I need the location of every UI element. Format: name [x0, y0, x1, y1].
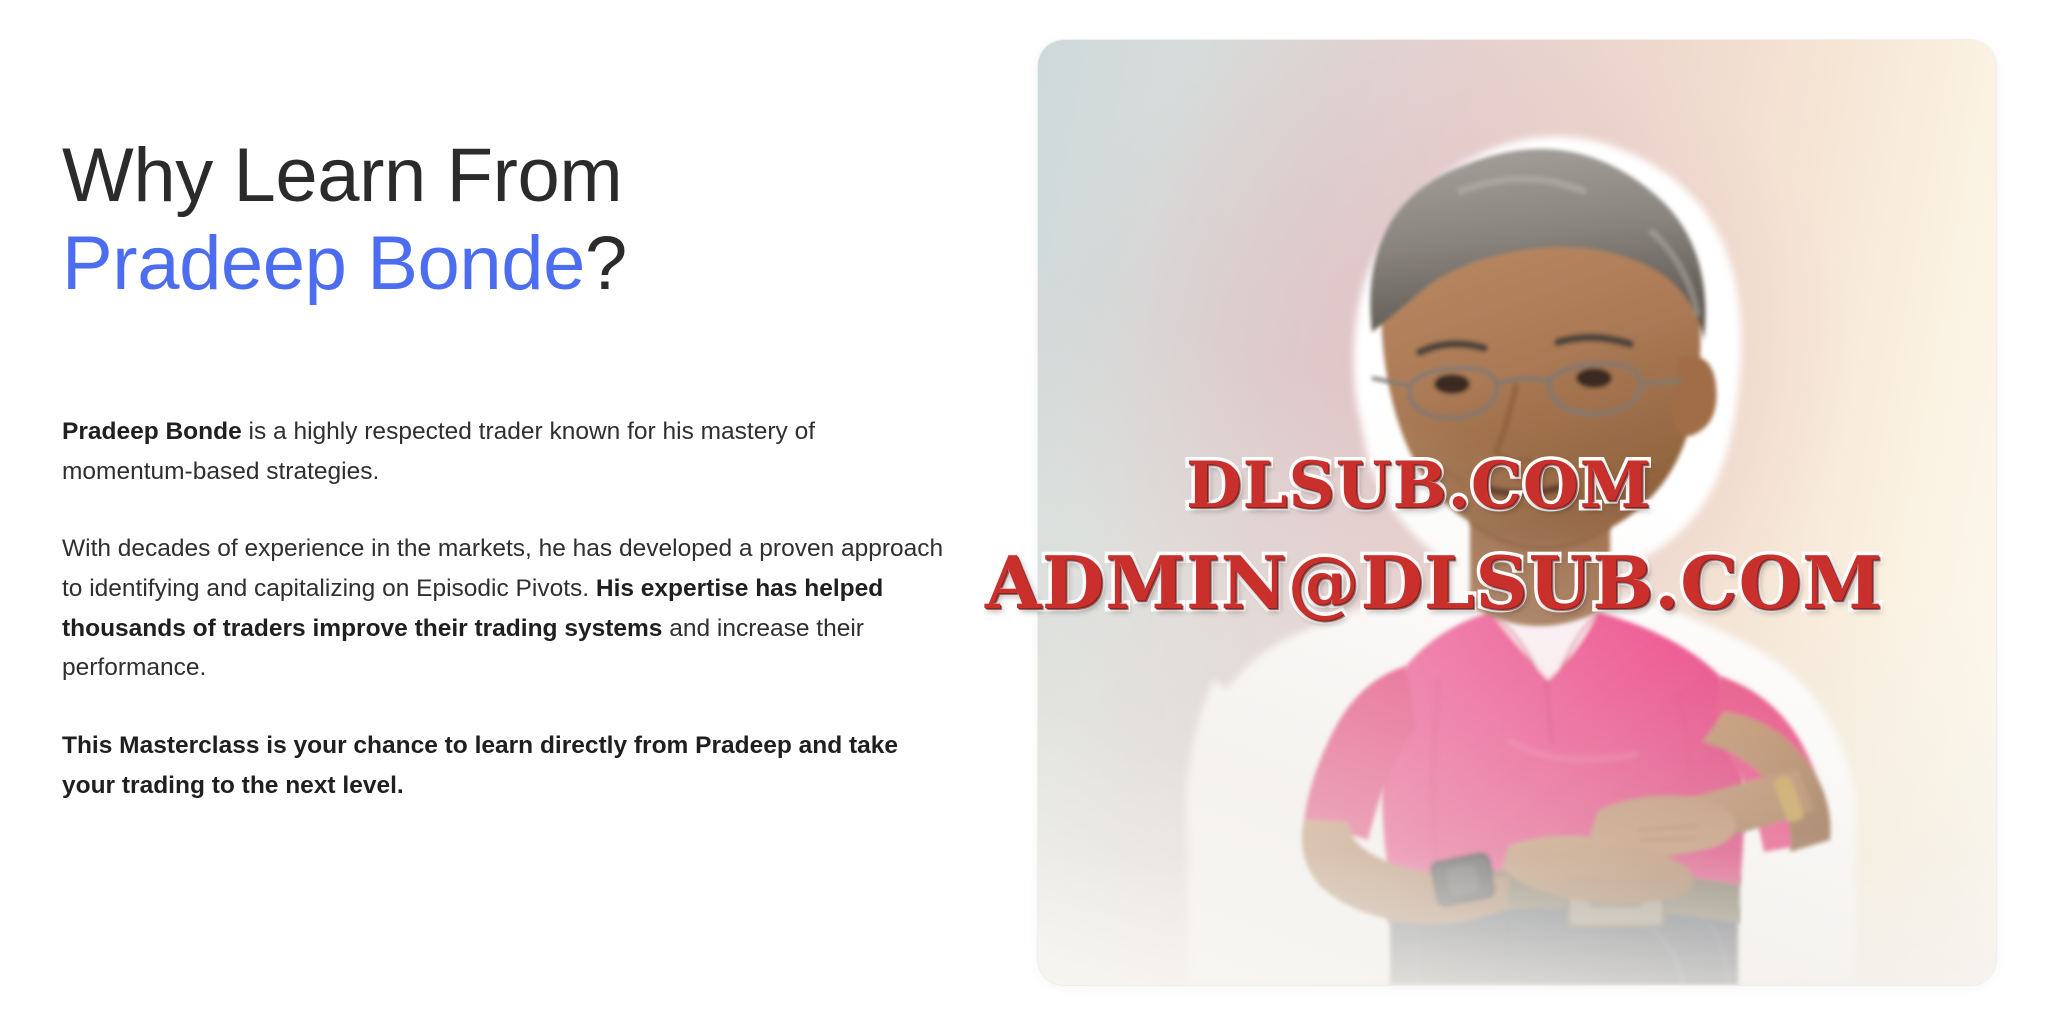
- headline-accent-name: Pradeep Bonde: [62, 221, 585, 306]
- body-copy: Pradeep Bonde is a highly respected trad…: [62, 412, 952, 806]
- paragraph-2: With decades of experience in the market…: [62, 529, 952, 688]
- headline-question-mark: ?: [585, 221, 627, 306]
- paragraph-1: Pradeep Bonde is a highly respected trad…: [62, 412, 952, 491]
- headline-line-2: Pradeep Bonde?: [62, 220, 942, 308]
- page-root: Why Learn From Pradeep Bonde? Pradeep Bo…: [0, 0, 2056, 1016]
- text-column: Why Learn From Pradeep Bonde? Pradeep Bo…: [62, 0, 962, 1016]
- speaker-photo-panel: [1038, 40, 1996, 985]
- paragraph-1-bold-lead: Pradeep Bonde: [62, 418, 242, 445]
- page-title: Why Learn From Pradeep Bonde?: [62, 132, 942, 308]
- headline-line-1: Why Learn From: [62, 132, 942, 220]
- speaker-portrait-image: [1038, 40, 1996, 985]
- paragraph-3: This Masterclass is your chance to learn…: [62, 726, 952, 805]
